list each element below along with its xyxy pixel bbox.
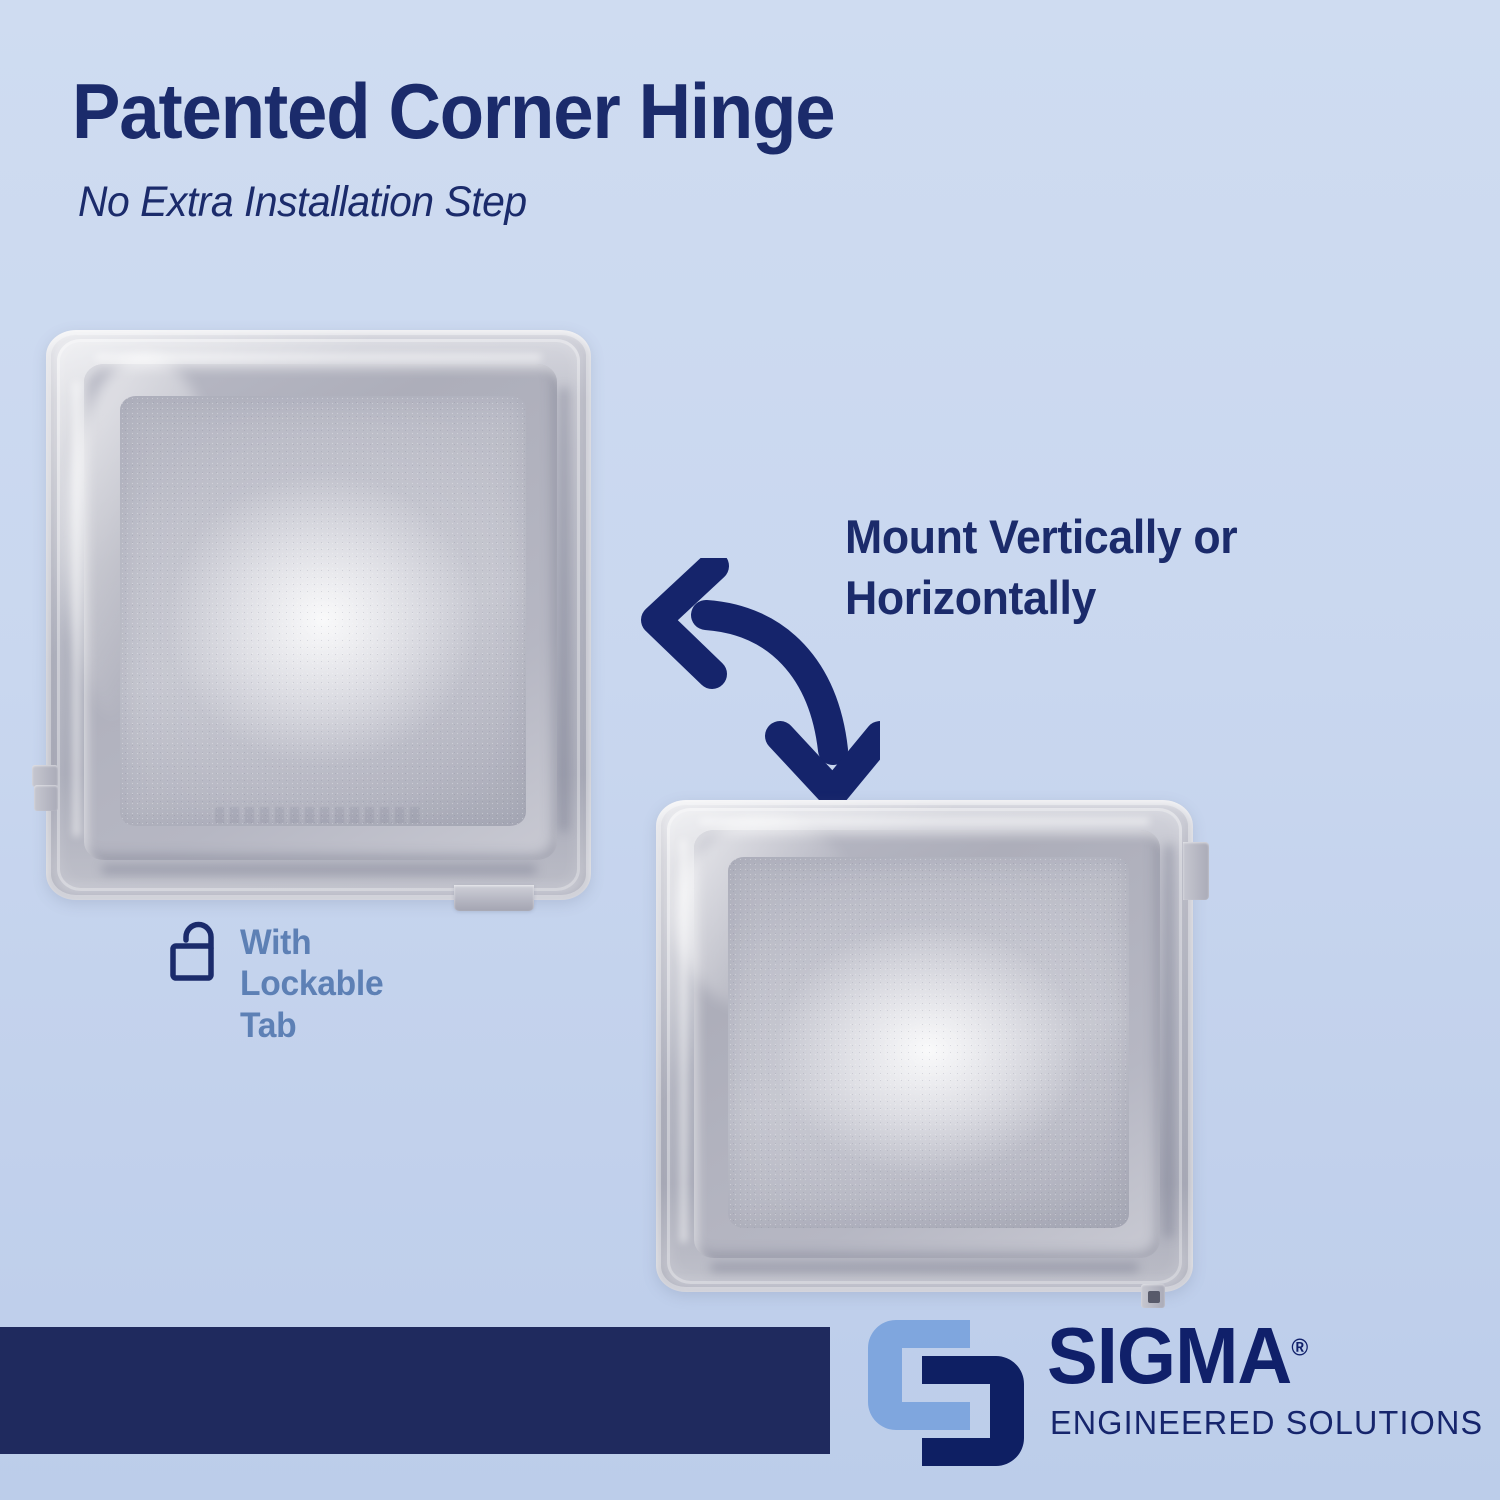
molded-text-emboss	[215, 807, 422, 823]
mount-orientation-caption: Mount Vertically or Horizontally	[845, 506, 1377, 628]
frost-texture	[120, 396, 526, 826]
product-image-cover-horizontal	[656, 800, 1193, 1292]
sigma-interlocking-brackets-logo	[862, 1314, 1034, 1472]
cover-frosted-face	[120, 396, 526, 826]
page-title: Patented Corner Hinge	[72, 74, 1235, 149]
bottom-edge-shadow	[101, 865, 537, 874]
left-edge-highlight-2	[680, 839, 687, 1242]
open-padlock-icon	[170, 920, 222, 982]
lockable-tab-callout: With Lockable Tab	[170, 918, 389, 1046]
lockable-tab-label: With Lockable Tab	[240, 918, 383, 1046]
poster-canvas: Patented Corner Hinge No Extra Installat…	[0, 0, 1500, 1500]
frost-texture-2	[728, 857, 1128, 1228]
sigma-tagline: ENGINEERED SOLUTIONS	[1050, 1406, 1483, 1439]
page-subtitle: No Extra Installation Step	[78, 180, 1123, 225]
hinge-mount-tab	[454, 885, 534, 911]
lockable-hasp-base	[34, 785, 58, 811]
lockable-hasp-tab-2	[1183, 842, 1209, 900]
top-edge-highlight-2	[699, 818, 1150, 825]
sigma-wordmark: SIGMA®	[1047, 1316, 1308, 1396]
footer-bar	[0, 1327, 830, 1454]
left-edge-highlight	[73, 381, 80, 837]
lockable-hasp-tab	[32, 765, 58, 787]
cover-shell-vertical	[46, 330, 591, 900]
registered-trademark-mark: ®	[1291, 1334, 1308, 1361]
cover-shell-horizontal	[656, 800, 1193, 1292]
sigma-wordmark-text: SIGMA	[1047, 1311, 1291, 1400]
sigma-logo: SIGMA® ENGINEERED SOLUTIONS	[862, 1310, 1422, 1478]
cover-frosted-face-2	[728, 857, 1128, 1228]
top-edge-highlight	[95, 354, 542, 361]
rotate-arrow-icon	[628, 558, 880, 806]
hinge-tab-hole-2	[1148, 1291, 1160, 1303]
right-edge-shadow-2	[1165, 844, 1173, 1238]
product-image-cover-vertical	[46, 330, 591, 900]
bottom-edge-shadow-2	[710, 1263, 1140, 1272]
right-edge-shadow	[560, 387, 568, 832]
